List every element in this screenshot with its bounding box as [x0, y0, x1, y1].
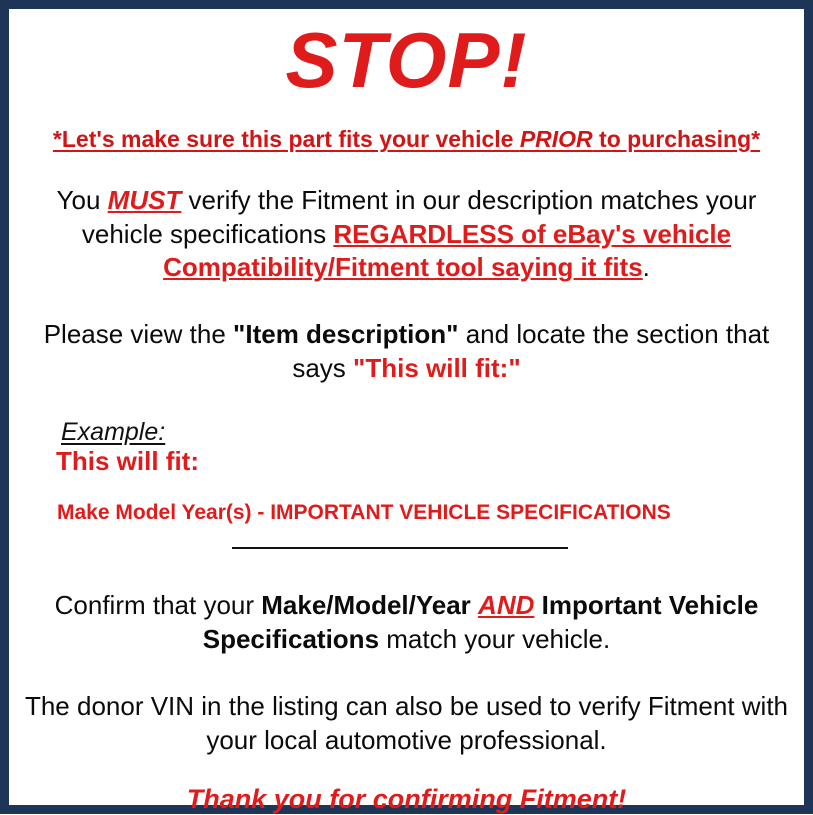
confirm-seg-4: match your vehicle. [379, 624, 610, 654]
paragraph-confirm: Confirm that your Make/Model/Year AND Im… [19, 589, 794, 657]
subtitle-suffix: to purchasing* [593, 126, 760, 152]
make-model-year-emphasis: Make/Model/Year [261, 590, 471, 620]
example-block: Example: This will fit: Make Model Year(… [19, 418, 794, 525]
example-label-row: Example: [56, 418, 794, 446]
must-seg-3: . [643, 252, 650, 282]
view-seg-1: Please view the [44, 319, 233, 349]
divider-wrapper [19, 547, 794, 561]
example-fit-heading: This will fit: [56, 447, 794, 477]
section-divider [232, 547, 568, 549]
subtitle-prefix: *Let's make sure this part fits your veh… [53, 126, 520, 152]
paragraph-must-verify: You MUST verify the Fitment in our descr… [19, 184, 794, 285]
confirm-seg-1: Confirm that your [55, 590, 262, 620]
this-will-fit-emphasis: "This will fit:" [353, 353, 521, 383]
paragraph-view-description: Please view the "Item description" and l… [19, 318, 794, 386]
fitment-notice-card: STOP! *Let's make sure this part fits yo… [0, 0, 813, 814]
must-emphasis: MUST [108, 185, 182, 215]
example-label: Example: [61, 418, 165, 446]
example-spec-line: Make Model Year(s) - IMPORTANT VEHICLE S… [57, 501, 794, 525]
notice-content: STOP! *Let's make sure this part fits yo… [9, 9, 804, 805]
thank-you-message: Thank you for confirming Fitment! [19, 783, 794, 815]
subtitle-banner: *Let's make sure this part fits your veh… [19, 125, 794, 154]
page-title: STOP! [19, 21, 794, 99]
confirm-seg-2 [471, 590, 478, 620]
item-description-emphasis: "Item description" [233, 319, 458, 349]
confirm-seg-3 [534, 590, 541, 620]
paragraph-donor-vin: The donor VIN in the listing can also be… [19, 690, 794, 758]
must-seg-1: You [57, 185, 108, 215]
and-emphasis: AND [478, 590, 534, 620]
subtitle-emphasis-prior: PRIOR [520, 126, 593, 152]
